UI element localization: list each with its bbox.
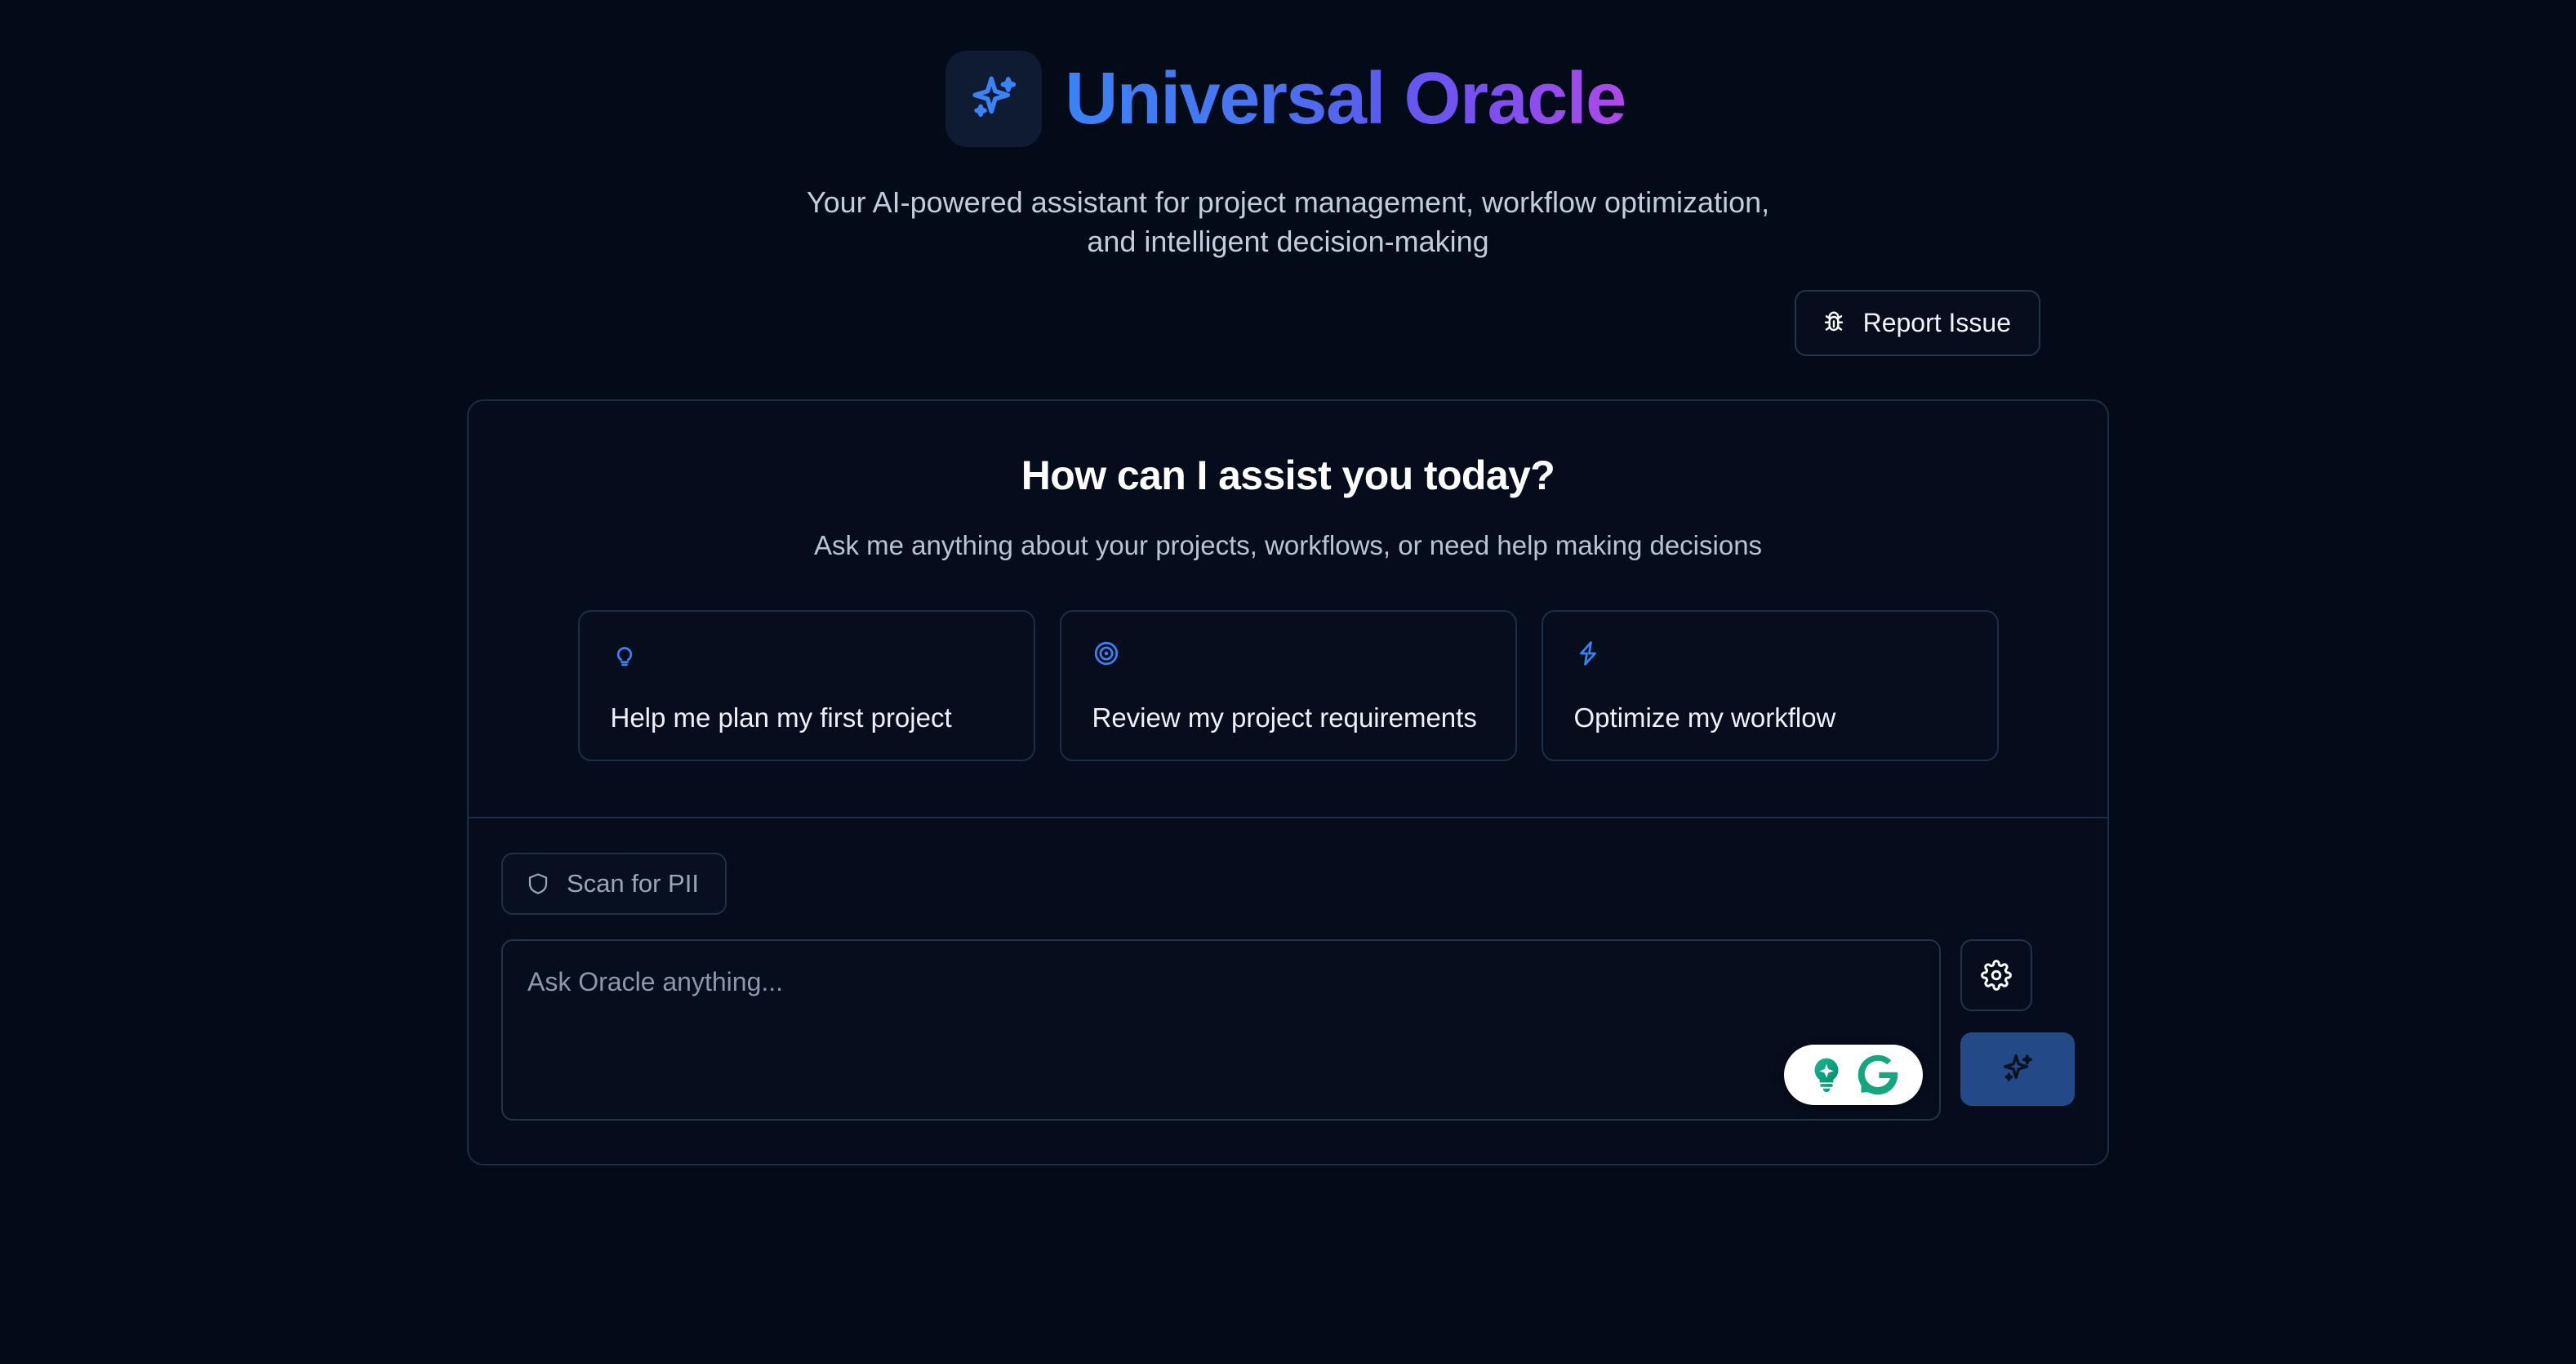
sparkles-icon bbox=[967, 72, 1021, 126]
suggestion-label: Review my project requirements bbox=[1092, 702, 1484, 733]
composer-input-row bbox=[501, 939, 2075, 1125]
page-title: Universal Oracle bbox=[1065, 60, 1630, 138]
settings-button[interactable] bbox=[1960, 939, 2032, 1011]
report-issue-row: Report Issue bbox=[467, 261, 2109, 356]
app-root: Universal Oracle Your AI-powered assista… bbox=[0, 0, 2576, 1364]
chat-input[interactable] bbox=[501, 939, 1941, 1121]
grammarly-g-icon[interactable] bbox=[1855, 1052, 1901, 1098]
suggestion-card-review-requirements[interactable]: Review my project requirements bbox=[1060, 610, 1517, 761]
grammarly-overlay[interactable] bbox=[1784, 1045, 1923, 1105]
page-header: Universal Oracle Your AI-powered assista… bbox=[0, 0, 2576, 261]
scan-for-pii-button[interactable]: Scan for PII bbox=[501, 853, 727, 915]
assistant-subheading: Ask me anything about your projects, wor… bbox=[469, 530, 2107, 561]
page-subtitle-line-1: Your AI-powered assistant for project ma… bbox=[0, 183, 2576, 222]
assistant-heading: How can I assist you today? bbox=[469, 452, 2107, 499]
composer-side-buttons bbox=[1960, 939, 2075, 1106]
scan-for-pii-label: Scan for PII bbox=[567, 869, 699, 898]
suggestion-list: Help me plan my first project Review my … bbox=[469, 610, 2107, 761]
sparkles-icon bbox=[2000, 1051, 2035, 1087]
report-issue-label: Report Issue bbox=[1863, 308, 2011, 338]
suggestion-card-optimize-workflow[interactable]: Optimize my workflow bbox=[1542, 610, 1999, 761]
gear-icon bbox=[1981, 960, 2012, 991]
shield-icon bbox=[526, 871, 550, 896]
composer: Scan for PII bbox=[469, 818, 2107, 1164]
lightning-bolt-icon bbox=[1574, 640, 1966, 674]
chat-input-wrapper bbox=[501, 939, 1941, 1125]
assistant-card: How can I assist you today? Ask me anyth… bbox=[467, 399, 2109, 1166]
page-subtitle-line-2: and intelligent decision-making bbox=[0, 222, 2576, 261]
brand-row: Universal Oracle bbox=[0, 51, 2576, 147]
target-icon bbox=[1092, 640, 1484, 674]
report-issue-button[interactable]: Report Issue bbox=[1795, 290, 2040, 356]
lightbulb-icon bbox=[611, 640, 1003, 674]
bug-icon bbox=[1821, 310, 1847, 337]
send-button[interactable] bbox=[1960, 1032, 2075, 1106]
assistant-card-top: How can I assist you today? Ask me anyth… bbox=[469, 401, 2107, 817]
app-logo-badge bbox=[945, 51, 1042, 147]
grammarly-ai-bulb-icon[interactable] bbox=[1806, 1054, 1847, 1095]
page-subtitle: Your AI-powered assistant for project ma… bbox=[0, 183, 2576, 261]
suggestion-label: Optimize my workflow bbox=[1574, 702, 1966, 733]
suggestion-card-plan-project[interactable]: Help me plan my first project bbox=[578, 610, 1035, 761]
suggestion-label: Help me plan my first project bbox=[611, 702, 1003, 733]
